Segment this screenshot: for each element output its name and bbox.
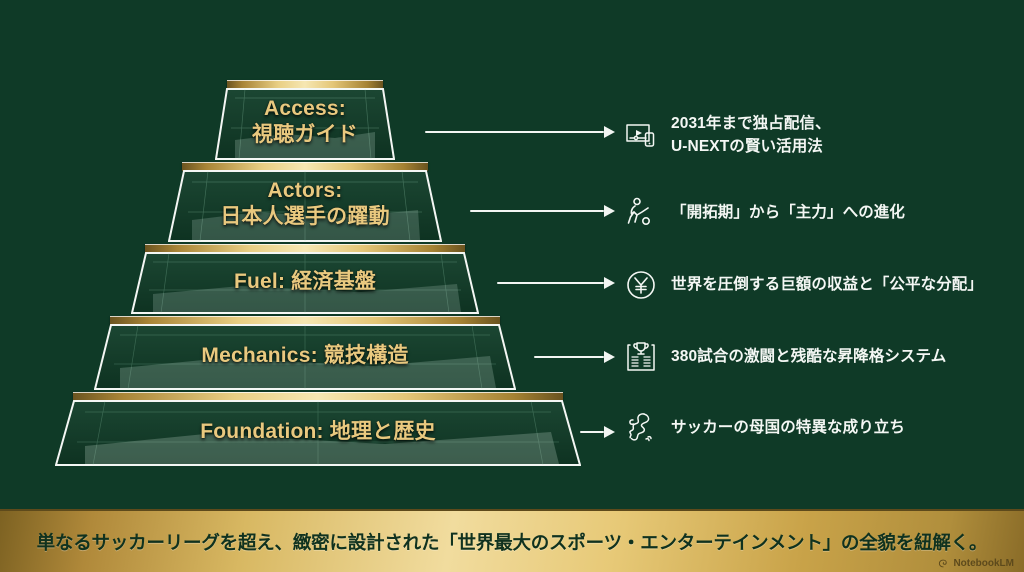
infographic-canvas: Access: 視聴ガイド Actors: 日本人選手の躍動	[0, 0, 1024, 572]
tier-title: Mechanics: 競技構造	[94, 343, 516, 369]
tier-title: Access:	[264, 97, 346, 120]
notebooklm-watermark: NotebookLM	[938, 558, 1014, 569]
annotation-access[interactable]: 2031年まで独占配信、 U-NEXTの賢い活用法	[624, 113, 831, 159]
annotation-text: 「開拓期」から「主力」への進化	[671, 202, 905, 225]
banner-text: 単なるサッカーリーグを超え、緻密に設計された「世界最大のスポーツ・エンターテイン…	[37, 529, 988, 555]
annotation-text: 2031年まで独占配信、 U-NEXTの賢い活用法	[671, 113, 831, 159]
pyramid-diagram: Access: 視聴ガイド Actors: 日本人選手の躍動	[0, 0, 640, 500]
pyramid-tier-mechanics[interactable]: Mechanics: 競技構造	[94, 324, 516, 390]
watermark-label: NotebookLM	[953, 558, 1014, 569]
tier-title: Foundation: 地理と歴史	[55, 419, 581, 445]
connector-arrow-4	[534, 351, 615, 363]
connector-arrow-5	[580, 426, 615, 438]
pyramid-tier-foundation[interactable]: Foundation: 地理と歴史	[55, 400, 581, 466]
tier-subtitle: 視聴ガイド	[252, 123, 358, 146]
annotation-actors[interactable]: 「開拓期」から「主力」への進化	[624, 196, 905, 230]
bottom-banner: 単なるサッカーリーグを超え、緻密に設計された「世界最大のスポーツ・エンターテイン…	[0, 509, 1024, 572]
connector-arrow-1	[425, 126, 615, 138]
britain-map-icon	[624, 411, 658, 445]
pyramid-tier-access[interactable]: Access: 視聴ガイド	[215, 88, 395, 160]
tier-title: Fuel: 経済基盤	[131, 269, 479, 295]
annotation-foundation[interactable]: サッカーの母国の特異な成り立ち	[624, 411, 905, 445]
annotation-text: 世界を圧倒する巨額の収益と「公平な分配」	[671, 274, 983, 297]
trophy-standings-icon	[624, 340, 658, 374]
soccer-player-icon	[624, 196, 658, 230]
tier-subtitle: 日本人選手の躍動	[220, 205, 390, 228]
notebook-spiral-icon	[938, 558, 949, 569]
pyramid-tier-actors[interactable]: Actors: 日本人選手の躍動	[168, 170, 442, 242]
yen-currency-icon	[624, 268, 658, 302]
connector-arrow-2	[470, 205, 615, 217]
annotation-fuel[interactable]: 世界を圧倒する巨額の収益と「公平な分配」	[624, 268, 983, 302]
connector-arrow-3	[497, 277, 615, 289]
annotation-text: 380試合の激闘と残酷な昇降格システム	[671, 346, 946, 369]
annotation-text: サッカーの母国の特異な成り立ち	[671, 417, 905, 440]
annotation-mechanics[interactable]: 380試合の激闘と残酷な昇降格システム	[624, 340, 946, 374]
tier-title: Actors:	[268, 179, 343, 202]
pyramid-tier-fuel[interactable]: Fuel: 経済基盤	[131, 252, 479, 314]
streaming-video-icon	[624, 119, 658, 153]
